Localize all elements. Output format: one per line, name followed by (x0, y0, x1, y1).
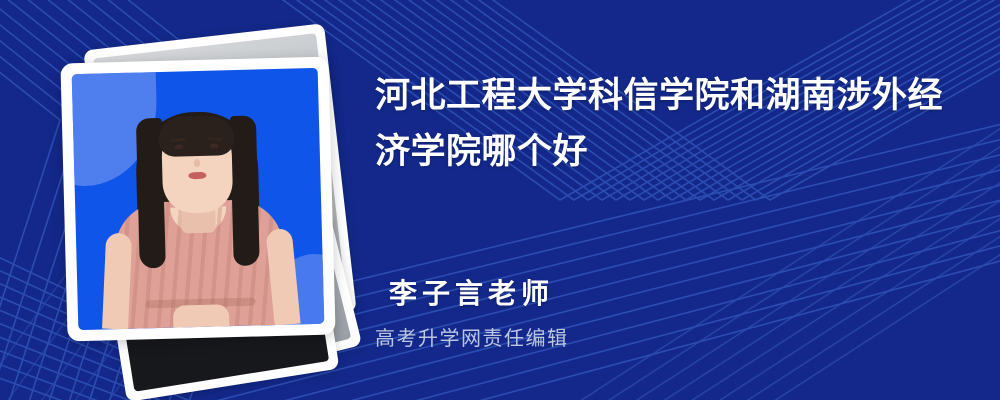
hands (173, 304, 230, 327)
portrait-photo (72, 68, 325, 330)
portrait-subject (72, 68, 325, 330)
hair-fringe (158, 115, 235, 157)
portrait-photo-frame (60, 57, 335, 342)
arm-left (102, 233, 132, 330)
author-name: 李子言老师 (389, 272, 554, 312)
author-role: 高考升学网责任编辑 (375, 322, 569, 351)
article-header-banner: 河北工程大学科信学院和湖南涉外经济学院哪个好 李子言老师 高考升学网责任编辑 (0, 0, 1000, 400)
photo-stack (44, 36, 354, 366)
mouth (188, 172, 206, 179)
page-title: 河北工程大学科信学院和湖南涉外经济学院哪个好 (375, 68, 955, 180)
banner-text-column: 河北工程大学科信学院和湖南涉外经济学院哪个好 李子言老师 高考升学网责任编辑 (375, 0, 975, 400)
